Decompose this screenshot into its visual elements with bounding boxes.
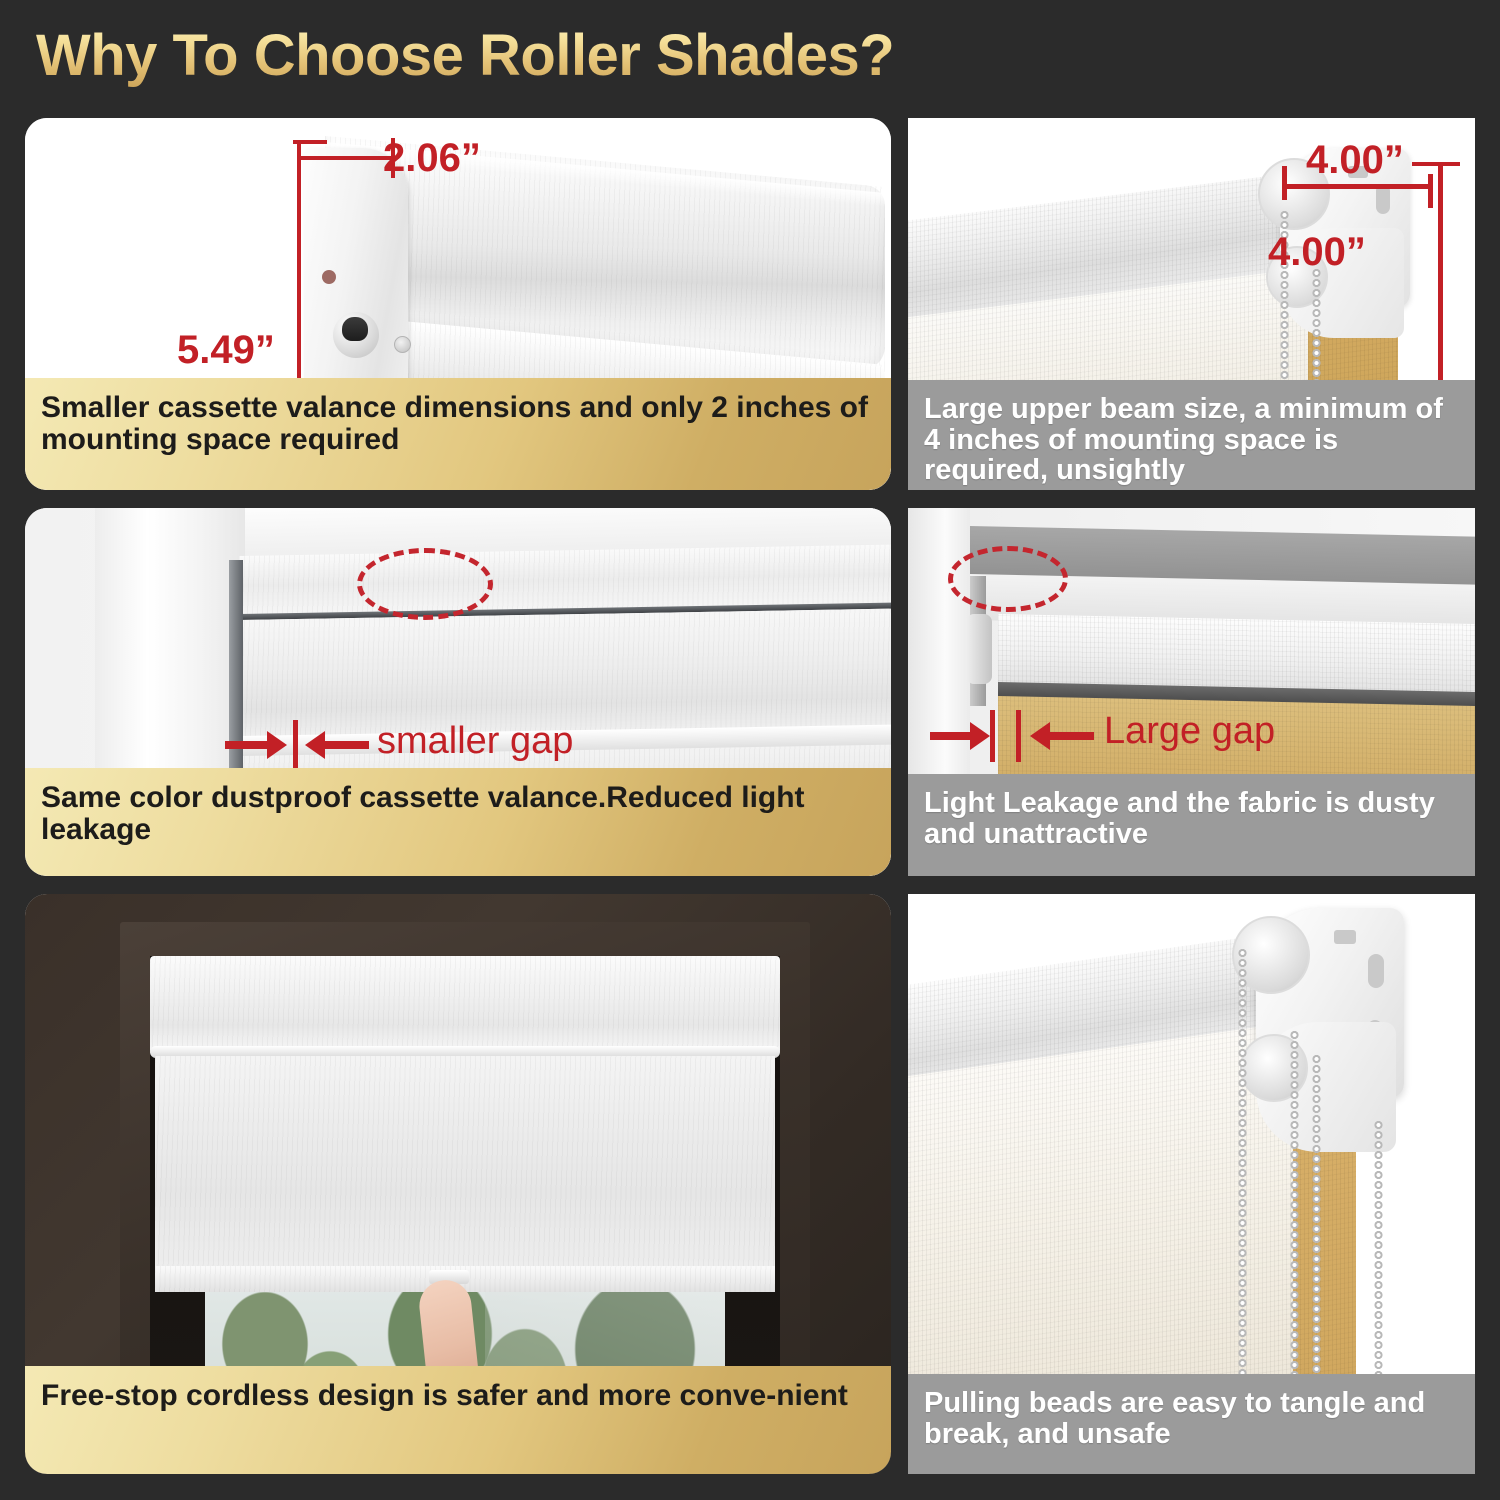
gap-arrow-right-head [1030, 722, 1050, 750]
gap-arrow-left-head [267, 731, 287, 759]
panel-6-caption: Pulling beads are easy to tangle and bre… [908, 1374, 1475, 1474]
gap-arrow-right-line [325, 741, 369, 749]
gap-highlight-circle [948, 546, 1068, 612]
panel-1-caption: Smaller cassette valance dimensions and … [25, 378, 891, 490]
gap-arrow-left-head [970, 722, 990, 750]
panel-4-caption: Light Leakage and the fabric is dusty an… [908, 774, 1475, 876]
gap-arrow-left-line [930, 732, 972, 740]
dim-beam-height-tick-top [1412, 162, 1460, 166]
bead-chain-1 [1238, 948, 1247, 1428]
dim-width-line [297, 156, 395, 160]
gap-post-tick [293, 720, 298, 770]
dim-width-label: 2.06” [383, 136, 481, 181]
bead-chain-2 [1290, 1030, 1299, 1430]
dim-beam-width-tick-left [1282, 166, 1287, 200]
panel-2-caption: Large upper beam size, a minimum of 4 in… [908, 380, 1475, 490]
gap-arrow-left-line [225, 741, 269, 749]
dim-beam-height-label: 4.00” [1268, 230, 1366, 275]
shade-fabric [155, 1056, 775, 1286]
gap-tick-b [1016, 710, 1021, 762]
gap-highlight-circle [357, 548, 493, 620]
dim-beam-height-line [1438, 162, 1443, 412]
dim-beam-width-tick-right [1428, 174, 1433, 208]
gap-arrow-right-line [1050, 732, 1094, 740]
end-cap-socket-icon [333, 312, 379, 358]
panel-3-caption: Same color dustproof cassette valance.Re… [25, 768, 891, 876]
screw-icon [394, 336, 411, 353]
dim-height-tick-top [293, 140, 327, 144]
panel-smaller-cassette: 2.06” 5.49” Smaller cassette valance dim… [25, 118, 891, 490]
panel-cordless-design: Free-stop cordless design is safer and m… [25, 894, 891, 1474]
panel-pulling-beads: Pulling beads are easy to tangle and bre… [908, 894, 1475, 1474]
dim-beam-width-line [1284, 184, 1432, 189]
page-title: Why To Choose Roller Shades? [36, 20, 1136, 92]
panel-5-caption: Free-stop cordless design is safer and m… [25, 1366, 891, 1474]
bracket-clip [966, 614, 992, 684]
panel-large-beam: 4.00” 4.00” Large upper beam size, a min… [908, 118, 1475, 490]
smaller-gap-label: smaller gap [377, 720, 573, 763]
screw-top-icon [322, 270, 336, 284]
cassette-headrail [150, 956, 780, 1052]
panel-smaller-gap: smaller gap Same color dustproof cassett… [25, 508, 891, 876]
dim-beam-width-label: 4.00” [1306, 138, 1404, 183]
large-gap-label: Large gap [1104, 710, 1275, 753]
dim-height-label: 5.49” [177, 328, 275, 373]
gap-arrow-right-head [305, 731, 325, 759]
gap-tick-a [990, 710, 995, 762]
panel-large-gap: Large gap Light Leakage and the fabric i… [908, 508, 1475, 876]
